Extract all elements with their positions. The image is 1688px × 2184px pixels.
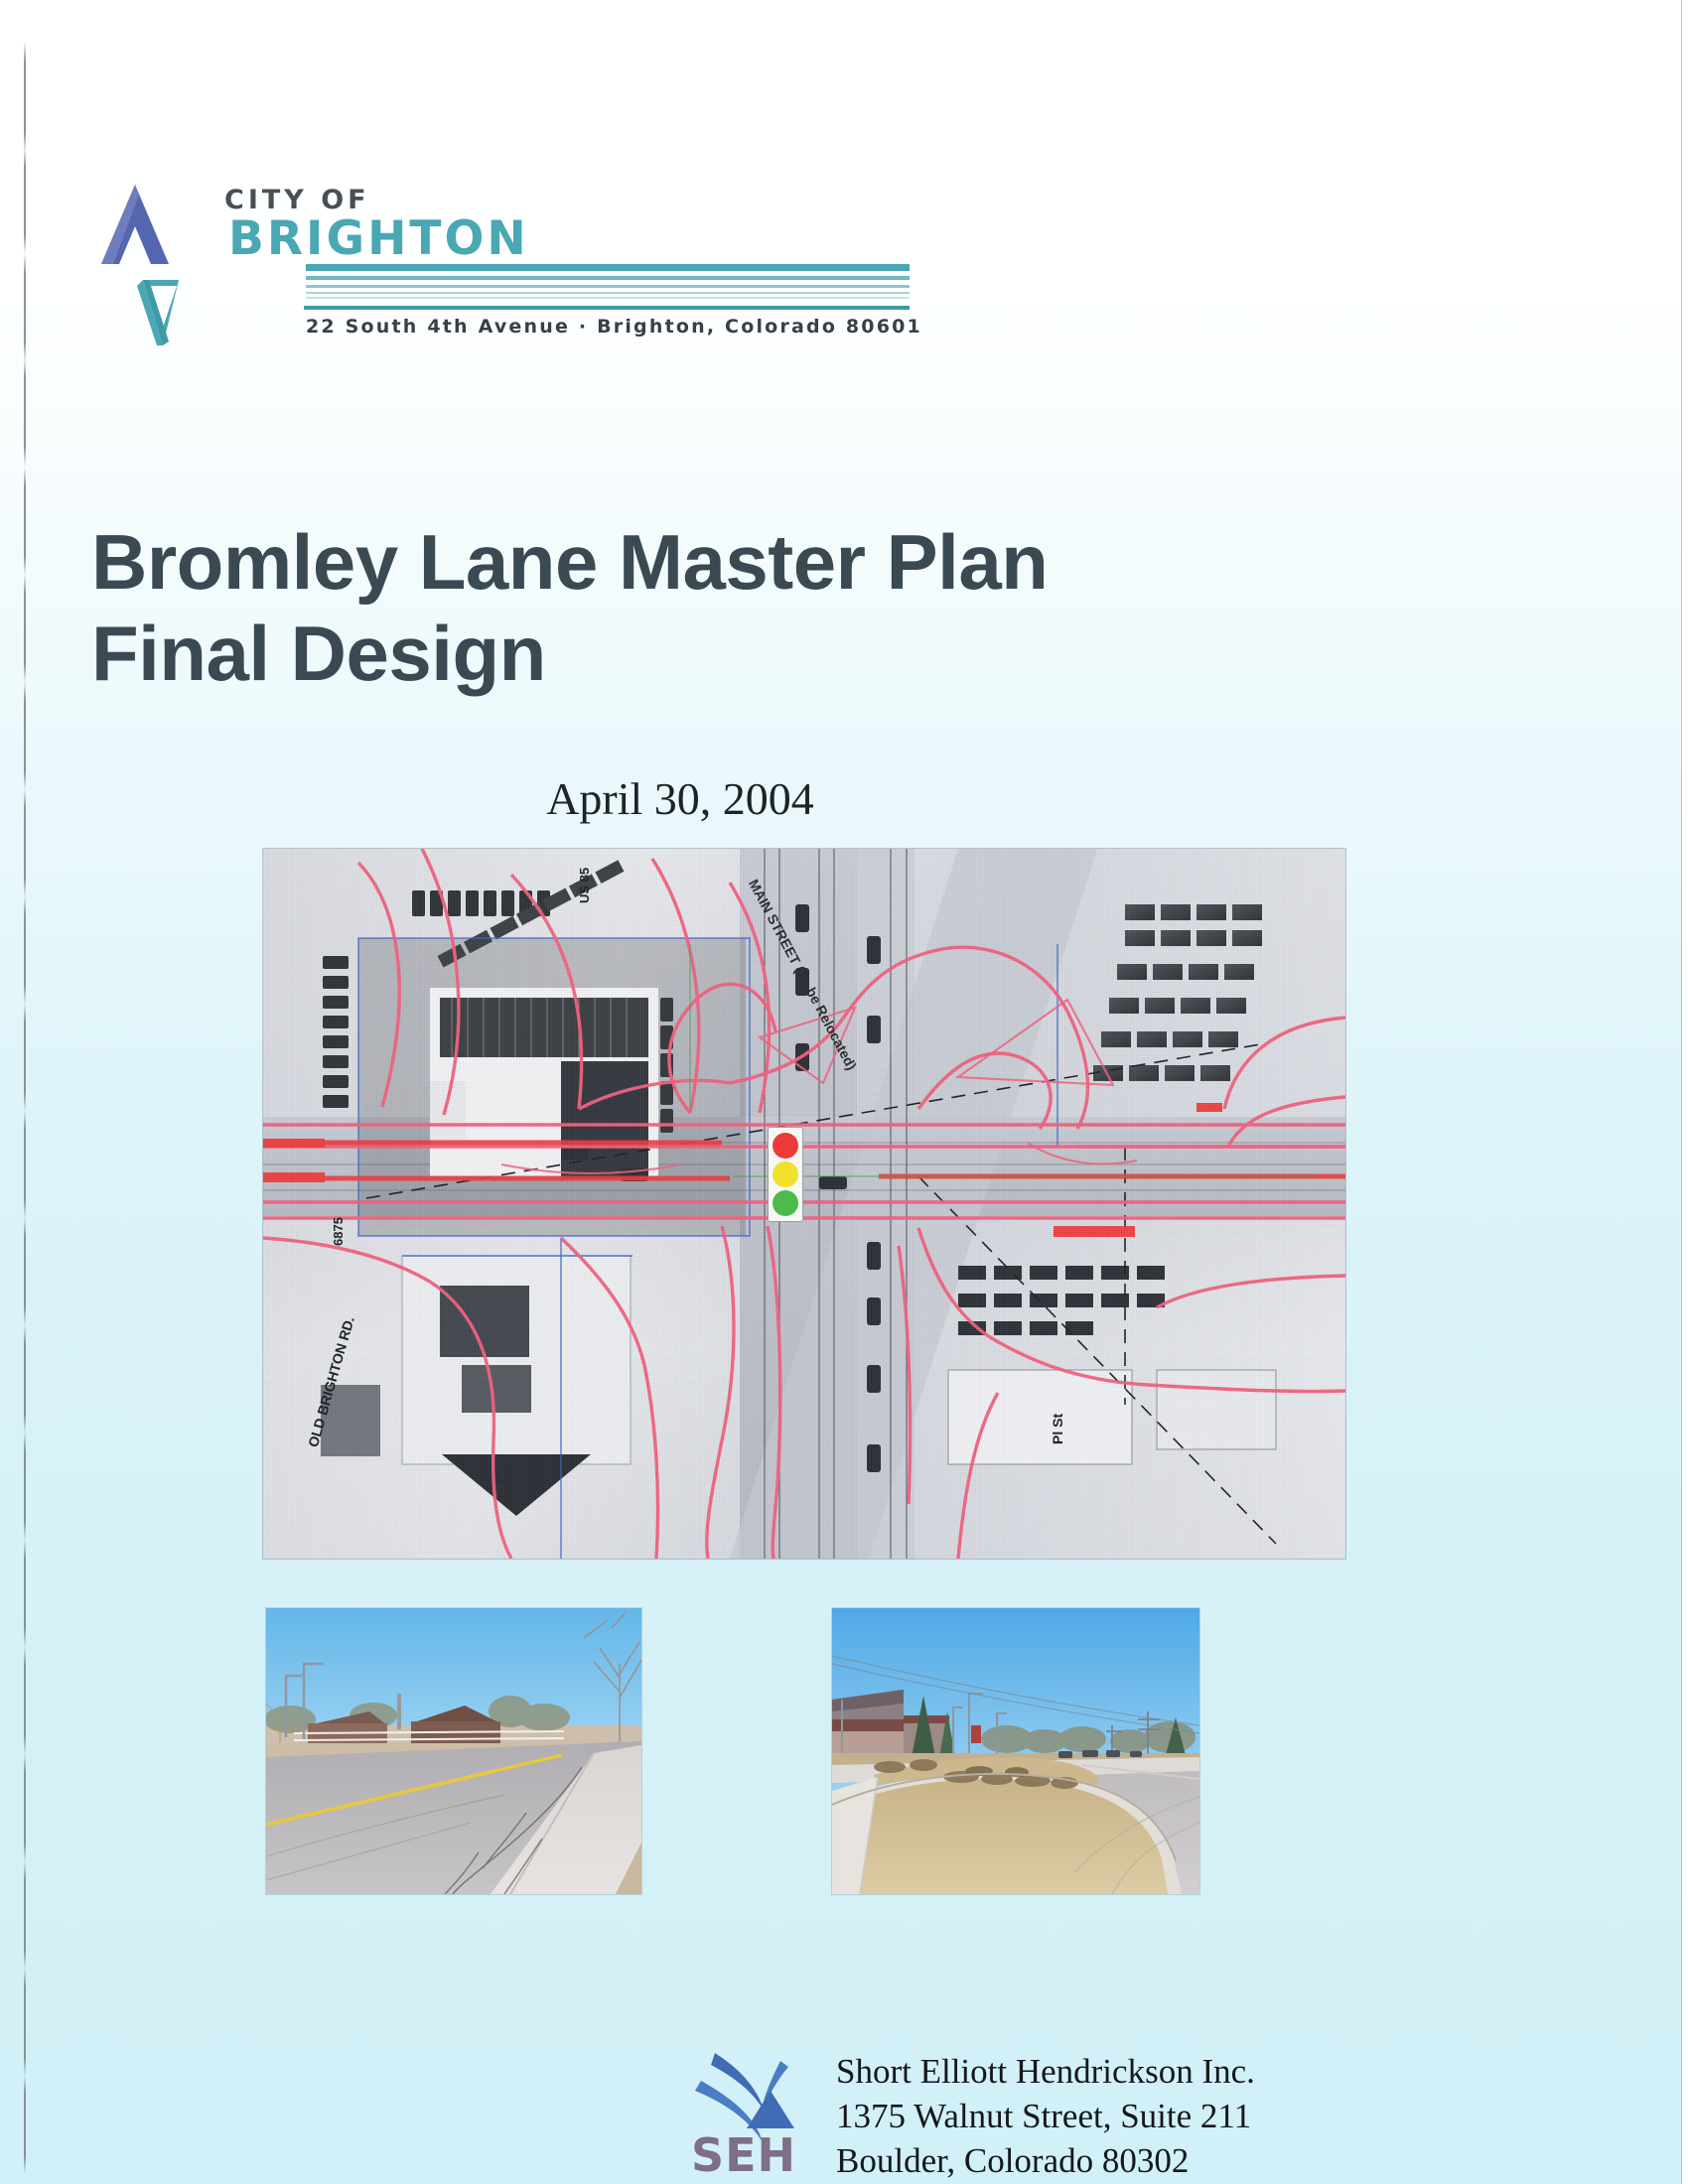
binding-mark bbox=[24, 1003, 26, 1112]
binding-mark bbox=[24, 895, 26, 1005]
map-label-pl-st: Pl St bbox=[1050, 1414, 1065, 1444]
binding-mark bbox=[24, 253, 26, 362]
page-right-edge bbox=[1681, 0, 1682, 2184]
binding-mark bbox=[24, 574, 26, 683]
logo-rule bbox=[306, 264, 910, 271]
logo-rule bbox=[306, 285, 910, 288]
page-title-line-2: Final Design bbox=[91, 608, 1283, 699]
photo-rural-roadway bbox=[266, 1608, 641, 1894]
photo-landscaped-median bbox=[832, 1608, 1199, 1894]
logo-rule bbox=[304, 306, 910, 310]
page-right-shade bbox=[1682, 0, 1688, 2184]
binding-mark bbox=[24, 467, 26, 576]
binding-mark bbox=[24, 1860, 26, 1970]
logo-rule bbox=[306, 292, 910, 294]
signal-lamp-yellow bbox=[773, 1161, 798, 1187]
binding-mark bbox=[24, 1968, 26, 2077]
binding-mark bbox=[24, 147, 26, 254]
document-date: April 30, 2004 bbox=[0, 772, 1360, 825]
city-of-brighton-logo: CITY OF BRIGHTON 22 South 4th Avenue · B… bbox=[77, 179, 862, 347]
binding-mark bbox=[24, 1539, 26, 1648]
logo-rule bbox=[306, 297, 910, 299]
seh-wordmark: SEH bbox=[691, 2128, 796, 2182]
consultant-company: Short Elliott Hendrickson Inc. bbox=[836, 2049, 1255, 2094]
page-title: Bromley Lane Master Plan Final Design bbox=[91, 516, 1283, 699]
logo-line-brighton: BRIGHTON bbox=[228, 211, 529, 266]
aerial-intersection-plan-image: US 85 MAIN STREET (To be Relocated) OLD … bbox=[263, 849, 1345, 1559]
city-address-line: 22 South 4th Avenue · Brighton, Colorado… bbox=[306, 316, 922, 338]
signal-lamp-red bbox=[773, 1133, 798, 1159]
traffic-signal-icon bbox=[768, 1127, 803, 1222]
binding-mark bbox=[24, 1217, 26, 1326]
brighton-chevron-icon bbox=[77, 179, 226, 347]
consultant-city-state-zip: Boulder, Colorado 80302 bbox=[836, 2138, 1255, 2183]
logo-rule bbox=[306, 276, 910, 280]
map-label-us-85: US 85 bbox=[577, 868, 592, 903]
binding-mark bbox=[24, 1432, 26, 1541]
binding-mark bbox=[24, 1324, 26, 1433]
binding-mark bbox=[24, 1110, 26, 1219]
binding-mark bbox=[24, 1646, 26, 1755]
binding-mark bbox=[24, 1753, 26, 1862]
page-title-line-1: Bromley Lane Master Plan bbox=[91, 516, 1283, 608]
consultant-address: Short Elliott Hendrickson Inc. 1375 Waln… bbox=[836, 2049, 1255, 2183]
aerial-photo-grain bbox=[263, 849, 1345, 1559]
binding-mark bbox=[24, 42, 26, 153]
binding-mark bbox=[24, 2075, 26, 2174]
document-page: CITY OF BRIGHTON 22 South 4th Avenue · B… bbox=[0, 0, 1688, 2184]
binding-mark bbox=[24, 357, 26, 467]
consultant-street: 1375 Walnut Street, Suite 211 bbox=[836, 2094, 1255, 2138]
map-label-parcel-6875: 6875 bbox=[331, 1217, 346, 1246]
signal-lamp-green bbox=[773, 1190, 798, 1216]
consultant-footer: SEH Short Elliott Hendrickson Inc. 1375 … bbox=[685, 2047, 1460, 2184]
